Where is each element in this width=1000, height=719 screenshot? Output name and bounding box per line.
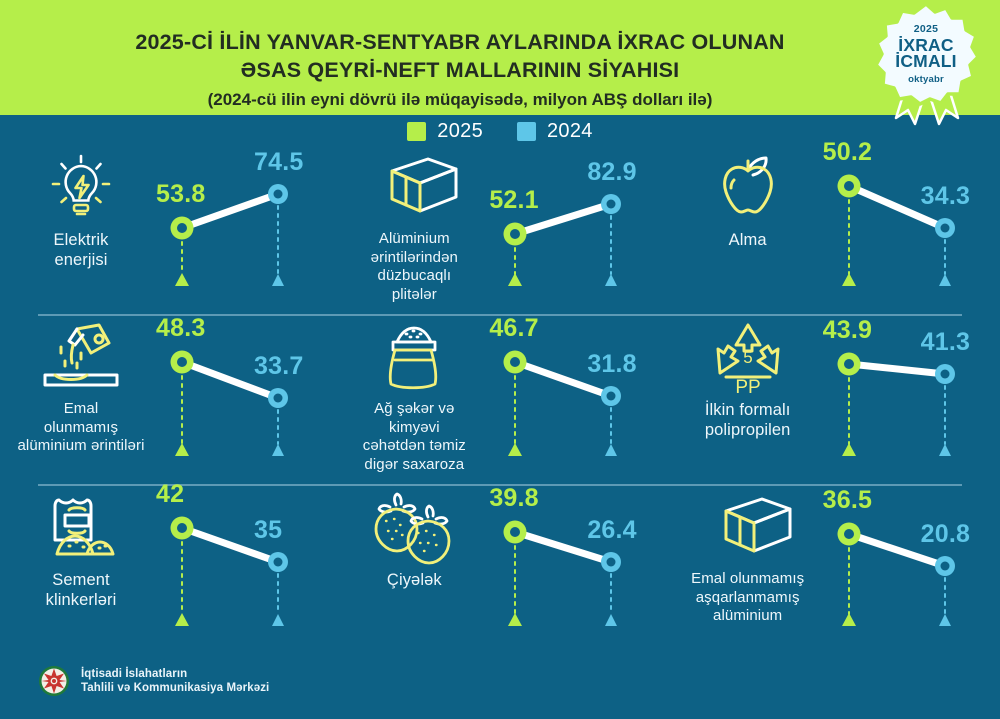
product-label-line: digər saxaroza: [363, 456, 466, 475]
product-item[interactable]: Çiyələk 39.826.4: [333, 486, 666, 656]
items-grid: Elektrikenerjisi 53.874.5 Alüminiumərint…: [0, 146, 1000, 656]
value-2025: 43.9: [823, 316, 872, 345]
legend-item-2025: 2025: [407, 120, 483, 143]
product-identity: Alma: [673, 150, 823, 250]
product-label-line: alüminium ərintiləri: [17, 437, 144, 456]
product-label-line: İlkin formalı: [705, 400, 791, 420]
product-label-line: aşqarlanmamış: [691, 589, 804, 608]
product-label-line: Emal olunmamış: [691, 570, 804, 589]
product-comparison-chart: 53.874.5: [150, 146, 333, 316]
product-comparison-chart: 52.182.9: [483, 146, 666, 316]
product-label-line: alüminium: [691, 607, 804, 626]
footer-text: İqtisadi İslahatların Tahlili və Kommuni…: [81, 667, 269, 696]
value-2024: 74.5: [254, 148, 303, 177]
recycle-pp-icon: 5 PP: [704, 320, 792, 396]
product-identity: Çiyələk: [339, 490, 489, 590]
product-label-line: Elektrik: [54, 230, 109, 250]
value-2024: 33.7: [254, 352, 303, 381]
product-label-line: enerjisi: [54, 250, 109, 270]
legend-swatch-2025: [407, 122, 426, 141]
items-row-cells: Elektrikenerjisi 53.874.5 Alüminiumərint…: [0, 146, 1000, 316]
header-titles: 2025-Cİ İLİN YANVAR-SENTYABR AYLARINDA İ…: [80, 28, 840, 113]
svg-text:PP: PP: [735, 377, 760, 397]
header-banner: 2025-Cİ İLİN YANVAR-SENTYABR AYLARINDA İ…: [0, 0, 1000, 115]
legend-item-2024: 2024: [517, 120, 593, 143]
product-identity: Emal olunmamışaşqarlanmamışalüminium: [673, 490, 823, 626]
items-row-cells: Emalolunmamışalüminium ərintiləri 48.333…: [0, 316, 1000, 486]
metal-pouring-icon: [33, 320, 129, 396]
footer-branding: İqtisadi İslahatların Tahlili və Kommuni…: [38, 665, 269, 697]
product-item[interactable]: Emal olunmamışaşqarlanmamışalüminium 36.…: [667, 486, 1000, 656]
page-title-line2: ƏSAS QEYRİ-NEFT MALLARININ SİYAHISI: [80, 56, 840, 84]
badge-text: 2025 İXRAC İCMALI oktyabr: [874, 2, 978, 106]
product-item[interactable]: Alüminiumərintilərindəndüzbucaqlıplitələ…: [333, 146, 666, 316]
value-2025: 42: [156, 480, 184, 509]
page-subtitle: (2024-cü ilin eyni dövrü ilə müqayisədə,…: [80, 87, 840, 113]
product-label-line: polipropilen: [705, 420, 791, 440]
product-item[interactable]: Emalolunmamışalüminium ərintiləri 48.333…: [0, 316, 333, 486]
value-2024: 41.3: [921, 328, 970, 357]
value-2025: 39.8: [489, 484, 538, 513]
legend-label-2025: 2025: [437, 120, 483, 143]
product-label-line: Alüminium: [371, 230, 458, 249]
product-label: Elektrikenerjisi: [54, 230, 109, 270]
items-row-cells: Sementklinkerləri 4235 Çiyələk: [0, 486, 1000, 656]
product-label-line: Sement: [46, 570, 117, 590]
items-row: Emalolunmamışalüminium ərintiləri 48.333…: [0, 316, 1000, 486]
product-identity: Alüminiumərintilərindəndüzbucaqlıplitələ…: [339, 150, 489, 304]
product-label-line: kimyəvi: [363, 419, 466, 438]
footer-line1: İqtisadi İslahatların: [81, 667, 269, 682]
product-identity: 5 PP İlkin formalıpolipropilen: [673, 320, 823, 440]
value-2025: 46.7: [489, 314, 538, 343]
product-comparison-chart: 43.941.3: [817, 316, 1000, 486]
product-comparison-chart: 36.520.8: [817, 486, 1000, 656]
product-identity: Sementklinkerləri: [6, 490, 156, 610]
infographic-page: 2025-Cİ İLİN YANVAR-SENTYABR AYLARINDA İ…: [0, 0, 1000, 719]
product-item[interactable]: Elektrikenerjisi 53.874.5: [0, 146, 333, 316]
apple-icon: [710, 150, 786, 226]
value-2025: 36.5: [823, 486, 872, 515]
product-label-line: Çiyələk: [387, 570, 442, 590]
sugar-sack-icon: [375, 320, 453, 396]
product-label: Emalolunmamışalüminium ərintiləri: [17, 400, 144, 456]
product-comparison-chart: 46.731.8: [483, 316, 666, 486]
value-2024: 82.9: [587, 158, 636, 187]
product-comparison-chart: 48.333.7: [150, 316, 333, 486]
connector-graphic: [817, 146, 1000, 316]
product-label: Alüminiumərintilərindəndüzbucaqlıplitələ…: [371, 230, 458, 304]
product-label-line: cəhətdən təmiz: [363, 437, 466, 456]
legend-swatch-2024: [517, 122, 536, 141]
aluminium-ingot-icon: [700, 490, 796, 566]
product-identity: Ağ şəkər vəkimyəvicəhətdən təmizdigər sa…: [339, 320, 489, 474]
cement-sack-icon: [39, 490, 123, 566]
value-2025: 52.1: [489, 186, 538, 215]
connector-graphic: [150, 486, 333, 656]
organization-emblem-icon: [38, 665, 70, 697]
value-2025: 48.3: [156, 314, 205, 343]
value-2025: 53.8: [156, 180, 205, 209]
product-comparison-chart: 50.234.3: [817, 146, 1000, 316]
connector-graphic: [150, 146, 333, 316]
items-row: Elektrikenerjisi 53.874.5 Alüminiumərint…: [0, 146, 1000, 316]
svg-text:5: 5: [743, 348, 752, 367]
product-label: Çiyələk: [387, 570, 442, 590]
product-label: Emal olunmamışaşqarlanmamışalüminium: [691, 570, 804, 626]
product-label: İlkin formalıpolipropilen: [705, 400, 791, 440]
value-2024: 26.4: [587, 516, 636, 545]
product-comparison-chart: 4235: [150, 486, 333, 656]
product-comparison-chart: 39.826.4: [483, 486, 666, 656]
badge-line2: İCMALI: [895, 53, 956, 71]
product-label-line: Ağ şəkər və: [363, 400, 466, 419]
product-identity: Elektrikenerjisi: [6, 150, 156, 270]
product-label-line: klinkerləri: [46, 590, 117, 610]
strawberry-icon: [366, 490, 462, 566]
product-item[interactable]: Sementklinkerləri 4235: [0, 486, 333, 656]
product-label-line: ərintilərindən: [371, 249, 458, 268]
value-2024: 35: [254, 516, 282, 545]
value-2024: 31.8: [587, 350, 636, 379]
legend-label-2024: 2024: [547, 120, 593, 143]
badge-month: oktyabr: [908, 75, 944, 85]
product-identity: Emalolunmamışalüminium ərintiləri: [6, 320, 156, 456]
footer-line2: Tahlili və Kommunikasiya Mərkəzi: [81, 681, 269, 696]
page-title-line1: 2025-Cİ İLİN YANVAR-SENTYABR AYLARINDA İ…: [80, 28, 840, 56]
items-row: Sementklinkerləri 4235 Çiyələk: [0, 486, 1000, 656]
product-label: Ağ şəkər vəkimyəvicəhətdən təmizdigər sa…: [363, 400, 466, 474]
product-label-line: olunmamış: [17, 419, 144, 438]
product-item[interactable]: 5 PP İlkin formalıpolipropilen 43.941.3: [667, 316, 1000, 486]
product-label-line: Emal: [17, 400, 144, 419]
value-2025: 50.2: [823, 138, 872, 167]
product-item[interactable]: Ağ şəkər vəkimyəvicəhətdən təmizdigər sa…: [333, 316, 666, 486]
aluminium-slab-icon: [366, 150, 462, 226]
product-label-line: düzbucaqlı: [371, 267, 458, 286]
product-label: Sementklinkerləri: [46, 570, 117, 610]
connector-graphic: [483, 146, 666, 316]
value-2024: 34.3: [921, 182, 970, 211]
product-label: Alma: [729, 230, 767, 250]
value-2024: 20.8: [921, 520, 970, 549]
product-item[interactable]: Alma 50.234.3: [667, 146, 1000, 316]
product-label-line: Alma: [729, 230, 767, 250]
product-label-line: plitələr: [371, 286, 458, 305]
badge-year: 2025: [914, 24, 939, 35]
lightbulb-icon: [42, 150, 120, 226]
